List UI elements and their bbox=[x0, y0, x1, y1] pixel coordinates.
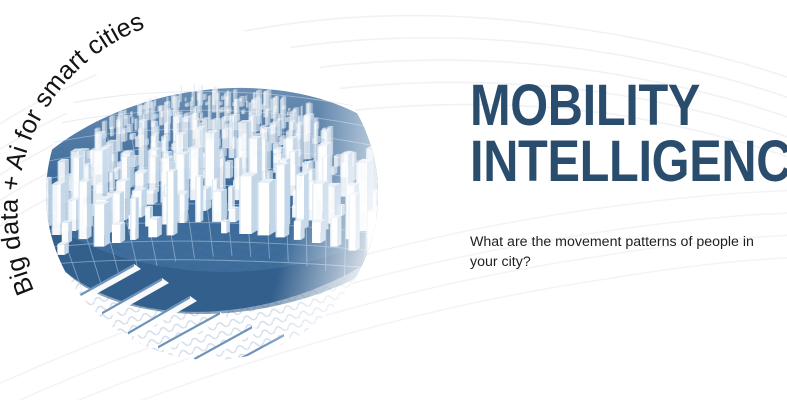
page-title-line-1: MOBILITY bbox=[470, 78, 787, 134]
city-artwork bbox=[12, 28, 412, 360]
page-subtitle: What are the movement patterns of people… bbox=[470, 232, 775, 272]
poster-canvas: Big data + Ai for smart cities MOBILITY … bbox=[0, 0, 787, 400]
page-title-line-2: INTELLIGENCE bbox=[470, 134, 787, 190]
atmospheric-haze bbox=[12, 28, 412, 360]
city-render-svg bbox=[12, 28, 412, 360]
page-title: MOBILITY INTELLIGENCE bbox=[470, 78, 787, 191]
text-panel: MOBILITY INTELLIGENCE What are the movem… bbox=[470, 0, 770, 400]
